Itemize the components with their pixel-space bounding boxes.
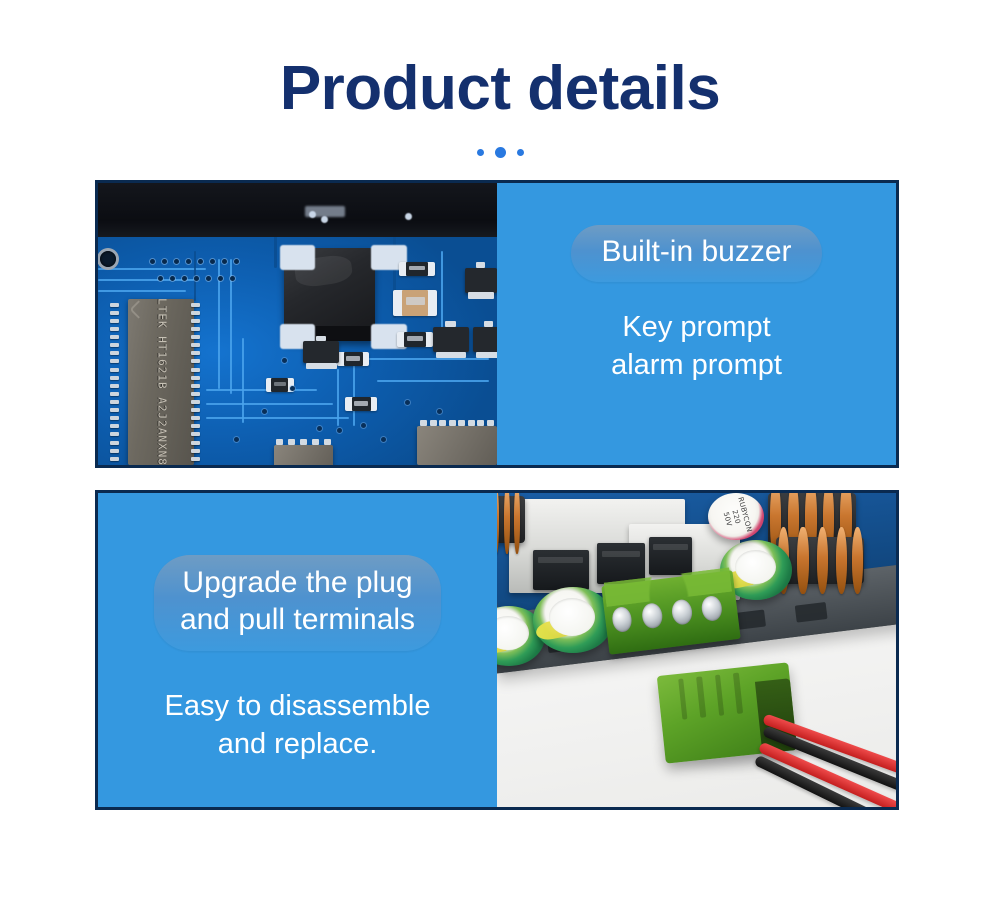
power-transistor (597, 543, 645, 584)
power-transistor (649, 537, 693, 575)
pcb-closeup-photo: HOLTEK HT1621B A2J2ANXN837 (98, 183, 497, 465)
dot-1-icon (477, 149, 484, 156)
ic-pins-right (191, 299, 200, 465)
caption-panel-terminals: Upgrade the plug and pull terminals Easy… (98, 493, 497, 807)
pcb-edge-strip (98, 183, 497, 237)
smd-resistor (397, 332, 433, 346)
panel-row-terminals: Upgrade the plug and pull terminals Easy… (95, 490, 899, 810)
rubycon-capacitor: RUBYCON 220 50V (708, 493, 764, 540)
sot-transistor (473, 327, 497, 352)
tertiary-ic (274, 445, 334, 465)
pin-header-row-bottom (158, 276, 235, 281)
panel-grid: HOLTEK HT1621B A2J2ANXN837 (95, 180, 899, 810)
pill-terminals-label: Upgrade the plug and pull terminals (180, 565, 415, 638)
sot-transistor (433, 327, 469, 352)
sot-transistor (303, 341, 339, 364)
mounting-hole (100, 251, 116, 267)
sot-transistor (465, 268, 497, 293)
pill-buzzer: Built-in buzzer (571, 225, 821, 282)
secondary-ic (417, 426, 497, 465)
caption-terminals-subtext: Easy to disassemble and replace. (165, 687, 431, 764)
page-header: Product details (0, 0, 1000, 158)
toroidal-inductor (497, 496, 525, 543)
dot-2-icon (495, 147, 506, 158)
dot-3-icon (517, 149, 524, 156)
holtek-driver-ic: HOLTEK HT1621B A2J2ANXN837 (128, 299, 194, 465)
caption-buzzer-subtext: Key prompt alarm prompt (611, 308, 782, 385)
pill-terminals: Upgrade the plug and pull terminals (154, 555, 441, 651)
plug-terminal-photo: RUBYCON 220 50V (497, 493, 896, 807)
panel-row-buzzer: HOLTEK HT1621B A2J2ANXN837 (95, 180, 899, 468)
caption-panel-buzzer: Built-in buzzer Key prompt alarm prompt (497, 183, 896, 465)
capacitor-label: RUBYCON 220 50V (719, 496, 754, 538)
smd-resistor (337, 352, 369, 366)
smd-resistor (345, 397, 377, 411)
smd-capacitor (393, 290, 437, 315)
ic-part-number-label: HOLTEK HT1621B A2J2ANXN837 (153, 299, 170, 465)
power-transistor (533, 550, 589, 591)
smd-resistor (399, 262, 435, 276)
pill-buzzer-label: Built-in buzzer (601, 234, 791, 271)
ic-pins-left (110, 299, 119, 465)
electrolytic-capacitor (533, 587, 613, 653)
page-title: Product details (0, 58, 1000, 120)
pin-header-row-top (150, 259, 239, 264)
dots-decoration (0, 146, 1000, 158)
